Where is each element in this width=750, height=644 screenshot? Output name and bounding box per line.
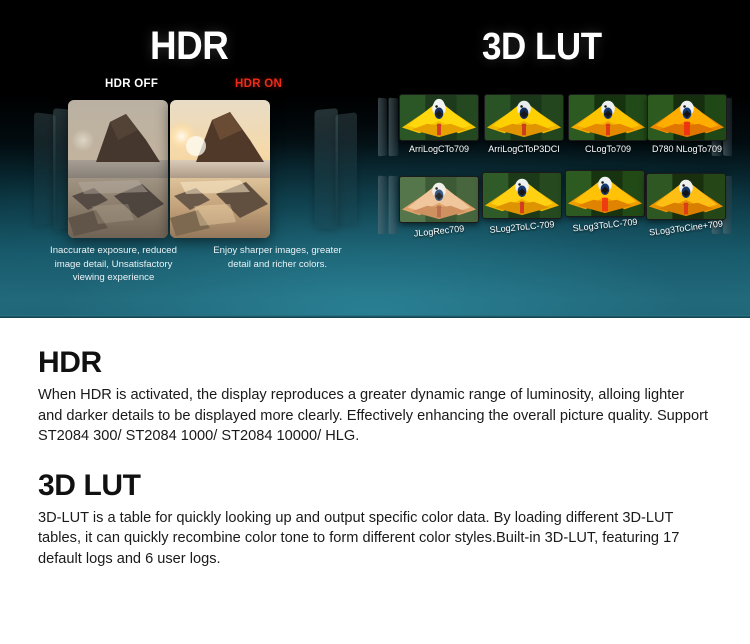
lut-row-1: ArriLogCTo709 [375,92,735,172]
lut-monitor: JLogRec709 [399,176,479,239]
lut-monitor: SLog2ToLC-709 [482,172,562,235]
lut-label: CLogTo709 [568,144,648,154]
lut-screen [482,172,562,219]
hdr-panel-stage [30,100,360,240]
lut-edge-left-inner [389,98,399,157]
lut-label: SLog3ToLC-709 [565,216,646,234]
lut-label: D780 NLogTo709 [647,144,727,154]
lut-monitor: SLog3ToCine+709 [646,173,726,236]
lut-label: ArriLogCTo709 [399,144,479,154]
hdr-off-photo [68,100,168,238]
hdr-comparison-block: HDR OFF HDR ON [30,78,360,308]
hdr-captions: Inaccurate exposure, reduced image detai… [30,244,360,285]
lut-monitor: SLog3ToLC-709 [565,170,645,233]
lut-section-heading: 3D LUT [38,469,712,503]
lut-edge-left-inner-row2 [389,176,399,235]
lut-screen [568,94,648,141]
lut-label: SLog3ToCine+709 [646,218,727,238]
hdr-off-caption: Inaccurate exposure, reduced image detai… [30,244,195,285]
lut-screen [647,94,727,141]
hdr-on-photo [170,100,270,238]
display-wing-right-inner [315,108,338,230]
content-section: HDR When HDR is activated, the display r… [0,318,750,569]
lut-screen [399,176,479,223]
hdr-state-labels: HDR OFF HDR ON [30,78,360,96]
lut-monitor: ArriLogCTo709 [399,94,479,157]
lut-screen [646,173,726,220]
section-spacer [38,447,712,469]
hero-title-hdr: HDR [150,24,228,69]
hdr-off-label: HDR OFF [105,78,158,90]
lut-monitor: ArriLogCToP3DCI [484,94,564,157]
lut-label: ArriLogCToP3DCI [484,144,564,154]
hdr-section-body: When HDR is activated, the display repro… [38,385,710,447]
hero-title-3d-lut: 3D LUT [482,26,602,69]
lut-label: SLog2ToLC-709 [482,219,563,236]
display-wing-right-outer [335,112,357,225]
hdr-on-label: HDR ON [235,78,282,90]
lut-edge-left-outer [378,98,387,157]
hdr-section-heading: HDR [38,346,712,380]
lut-label: JLogRec709 [399,222,480,240]
lut-screen [565,170,645,217]
hero-bottom-divider [0,315,750,318]
lut-monitor: CLogTo709 [568,94,648,157]
lut-section-body: 3D-LUT is a table for quickly looking up… [38,508,710,570]
lut-screen [399,94,479,141]
lut-edge-left-outer-row2 [378,176,387,235]
hero-banner: HDR 3D LUT HDR OFF HDR ON [0,0,750,318]
lut-row-2: JLogRec709 [375,170,735,250]
lut-monitor-wall: ArriLogCTo709 [375,92,735,272]
lut-monitor: D780 NLogTo709 [647,94,727,157]
hdr-on-caption: Enjoy sharper images, greater detail and… [195,244,360,285]
lut-screen [484,94,564,141]
